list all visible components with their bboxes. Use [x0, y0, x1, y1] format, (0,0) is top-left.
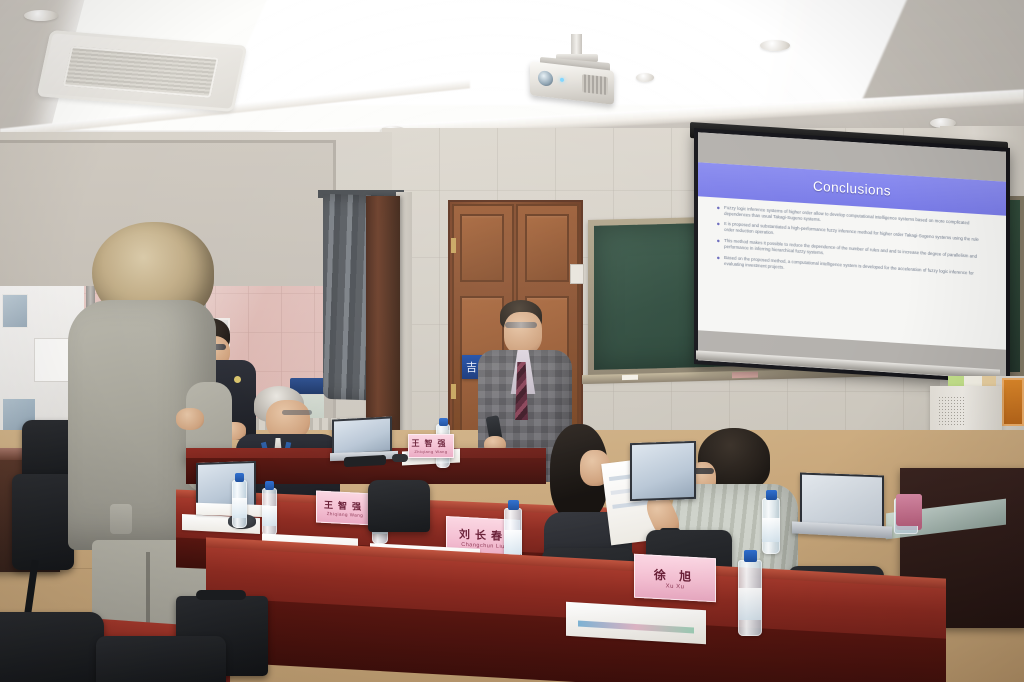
- placard-name-cn: 王智强: [412, 438, 451, 449]
- face: [504, 312, 542, 354]
- bottle-cap: [508, 500, 519, 510]
- door-hinge: [451, 238, 456, 253]
- bottle-label: [738, 588, 762, 620]
- bottle-cap: [235, 473, 244, 482]
- placard-name-en: Xu Xu: [666, 583, 685, 590]
- bullet-dot-icon: ●: [716, 238, 720, 250]
- wall-outlet[interactable]: [570, 264, 584, 284]
- eraser[interactable]: [732, 372, 758, 379]
- glasses-icon: [505, 322, 537, 328]
- slide-surface: Conclusions ● Fuzzy logic inference syst…: [698, 132, 1006, 379]
- water-bottle[interactable]: [762, 498, 780, 554]
- projector-lens: [538, 70, 553, 87]
- lapel-pin: [234, 376, 241, 383]
- placard-name-en: Zhiqiang Wang: [327, 511, 364, 518]
- slide-bullet-list: ● Fuzzy logic inference systems of highe…: [716, 204, 987, 288]
- water-bottle[interactable]: [232, 480, 247, 528]
- chair[interactable]: [96, 636, 226, 682]
- bullet-dot-icon: ●: [716, 254, 720, 266]
- door-hinge: [451, 384, 456, 399]
- conference-room-photo: 吉林大学 Conclusions ● Fuzzy logic inference…: [0, 0, 1024, 682]
- name-placard: 王智强 Zhiqiang Wang: [408, 434, 454, 458]
- orange-box: [1002, 378, 1024, 426]
- laptop[interactable]: [630, 441, 696, 501]
- placard-name-en: Zhiqiang Wang: [414, 449, 447, 454]
- projection-screen: Conclusions ● Fuzzy logic inference syst…: [694, 128, 1010, 384]
- glasses-icon: [282, 410, 312, 415]
- projector-vent: [582, 74, 608, 95]
- pink-container[interactable]: [896, 494, 922, 526]
- water-bottle[interactable]: [738, 560, 762, 636]
- water-bottle[interactable]: [262, 488, 277, 536]
- jacket-pocket: [110, 504, 132, 534]
- laptop[interactable]: [800, 473, 884, 530]
- slide-title: Conclusions: [813, 179, 891, 199]
- projector-led: [560, 78, 564, 82]
- ac-grille: [63, 46, 219, 98]
- bottle-cap: [439, 418, 448, 426]
- bullet-dot-icon: ●: [716, 221, 720, 233]
- bottle-cap: [766, 490, 777, 500]
- bag-handle: [196, 590, 246, 600]
- laptop[interactable]: [332, 416, 392, 455]
- bottle-label: [232, 498, 247, 518]
- bottle-cap: [265, 481, 274, 490]
- bullet-dot-icon: ●: [716, 204, 720, 216]
- bottle-label: [504, 530, 522, 554]
- bottle-label: [762, 518, 780, 542]
- chalk-piece[interactable]: [622, 375, 638, 380]
- name-placard: 王智强 Zhiqiang Wang: [316, 490, 374, 525]
- name-placard: 徐 旭 Xu Xu: [634, 554, 716, 603]
- projector-mount-stem: [571, 34, 582, 56]
- ceiling-downlight-icon: [760, 40, 790, 51]
- bottle-cap: [744, 550, 757, 562]
- ceiling-downlight-icon: [24, 10, 58, 21]
- speaker-grille-icon: [938, 396, 966, 426]
- hand: [176, 408, 204, 430]
- ceiling-downlight-icon: [636, 73, 654, 82]
- device[interactable]: [392, 454, 408, 462]
- bottle-label: [262, 506, 277, 526]
- placard-name-cn: 徐 旭: [654, 565, 696, 584]
- chair[interactable]: [0, 612, 104, 682]
- chair[interactable]: [368, 480, 430, 532]
